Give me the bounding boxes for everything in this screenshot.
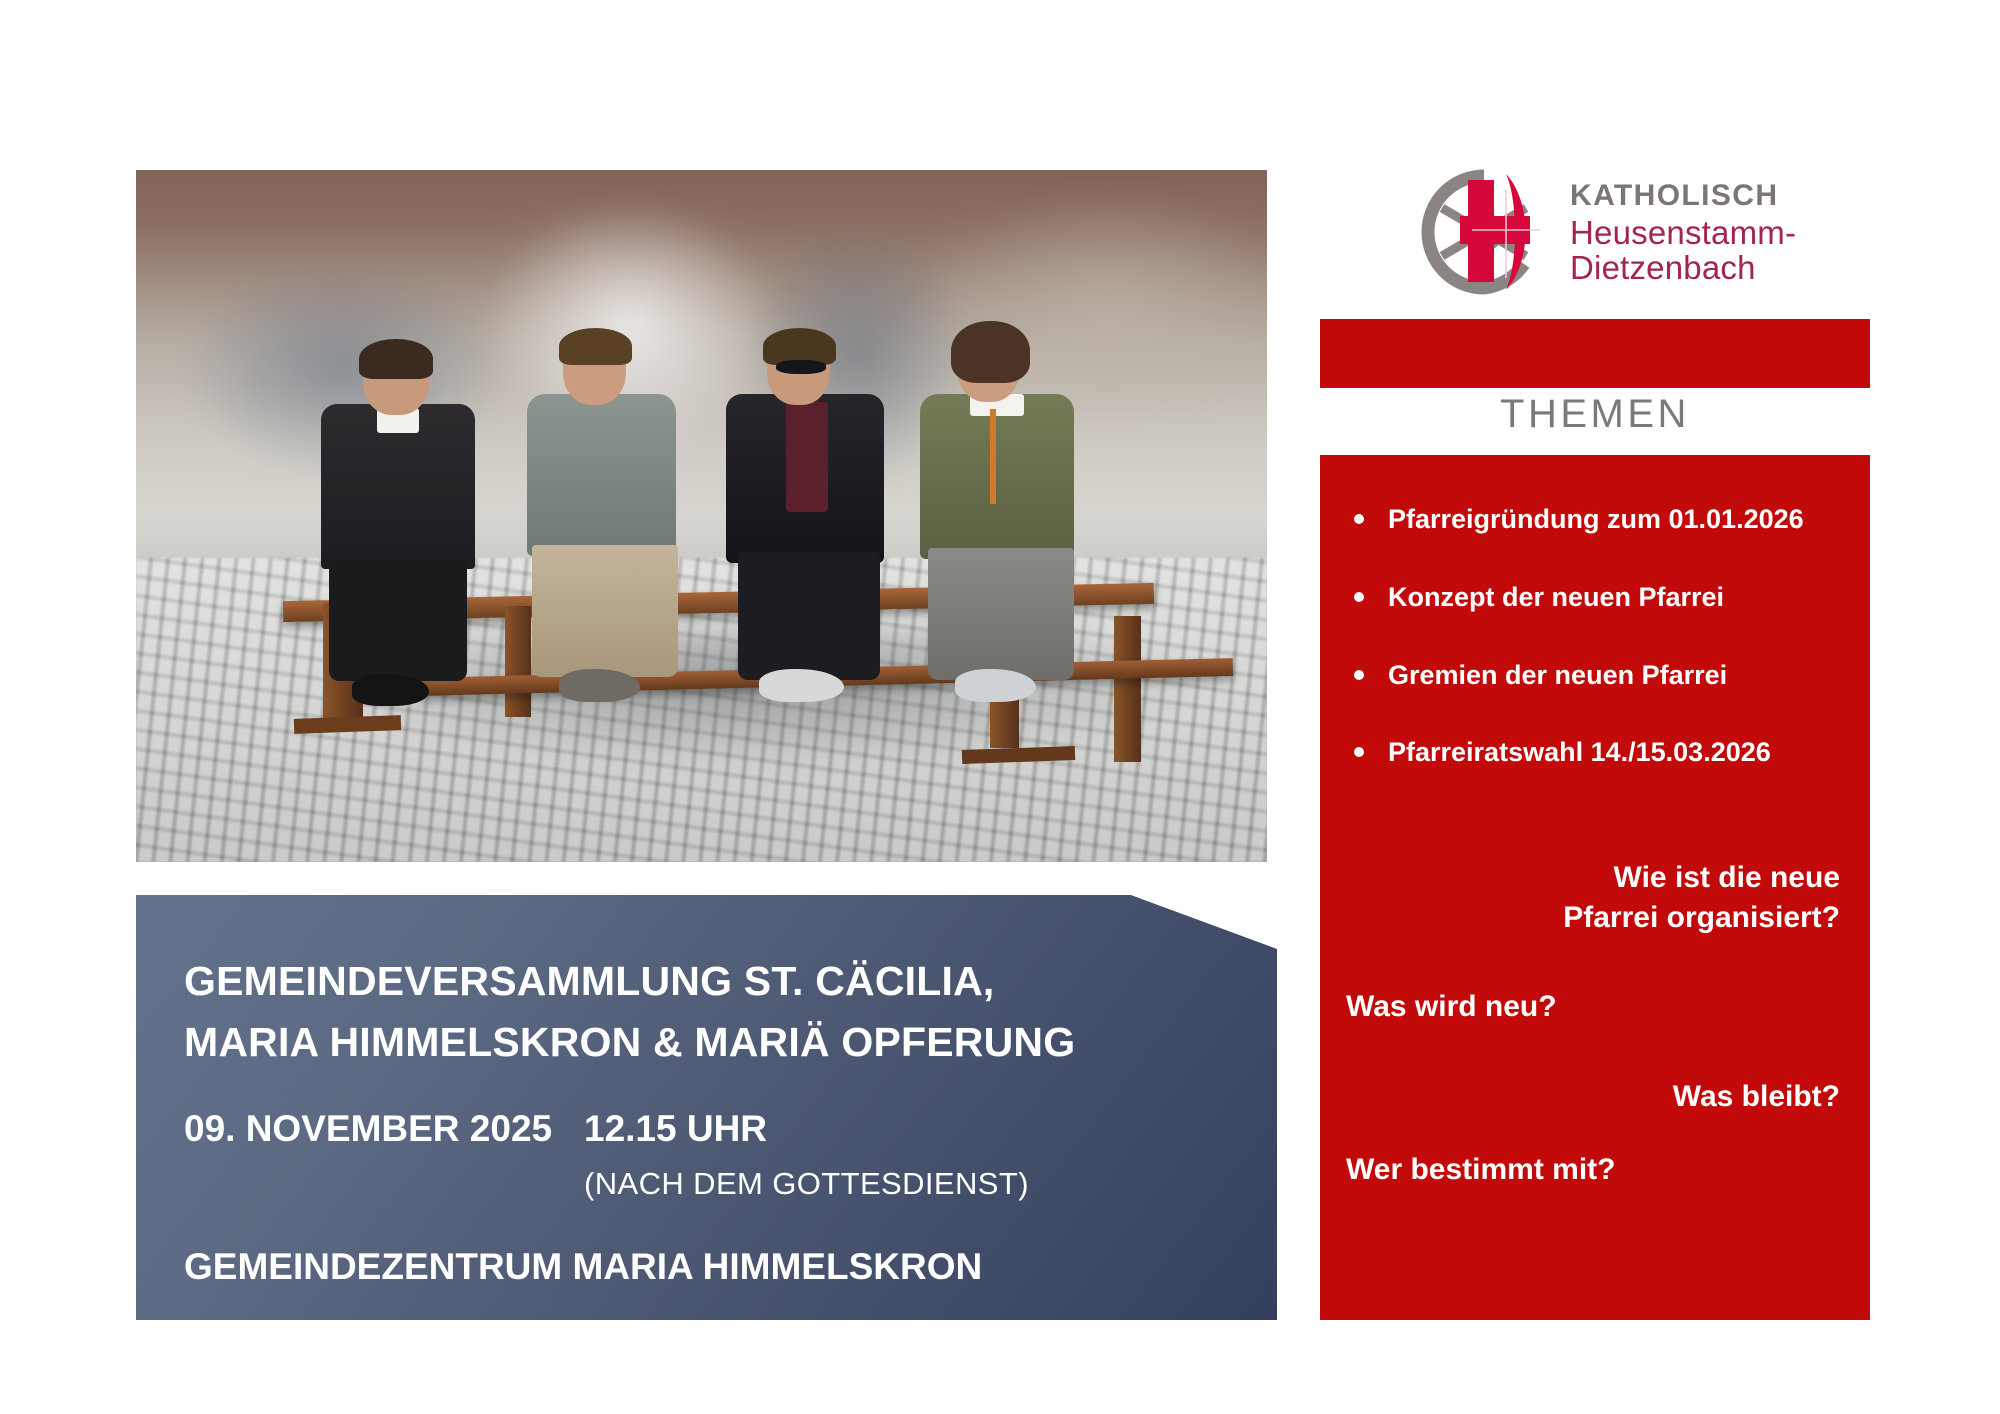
person-priest — [306, 350, 498, 710]
brand-logo-text: KATHOLISCH Heusenstamm- Dietzenbach — [1570, 181, 1796, 284]
question-wer-bestimmt-mit: Wer bestimmt mit? — [1346, 1150, 1840, 1190]
event-time: 12.15 UHR — [584, 1108, 767, 1150]
question-wie-line-2: Pfarrei organisiert? — [1346, 898, 1840, 938]
lanyard-icon — [990, 409, 997, 504]
list-item: Pfarreiratswahl 14./15.03.2026 — [1388, 736, 1850, 770]
young-man-hair — [559, 328, 632, 365]
priest-legs — [329, 559, 467, 681]
person-young-man — [509, 343, 701, 710]
burgundy-shirt — [786, 402, 828, 512]
man-sunglasses-legs — [738, 552, 880, 680]
young-man-torso — [527, 394, 677, 555]
red-accent-bar — [1320, 319, 1870, 388]
topics-list: Pfarreigründung zum 01.01.2026 Konzept d… — [1320, 503, 1870, 770]
event-details-panel: GEMEINDEVERSAMMLUNG ST. CÄCILIA, MARIA H… — [136, 895, 1277, 1320]
topic-label: Konzept der neuen Pfarrei — [1388, 582, 1724, 612]
woman-sweater — [920, 394, 1074, 559]
sunglasses-icon — [776, 360, 826, 375]
poster-canvas: GEMEINDEVERSAMMLUNG ST. CÄCILIA, MARIA H… — [0, 0, 2000, 1414]
bullet-icon — [1354, 592, 1364, 602]
list-item: Pfarreigründung zum 01.01.2026 — [1388, 503, 1850, 537]
topic-label: Pfarreiratswahl 14./15.03.2026 — [1388, 737, 1771, 767]
pew-leg-4 — [1114, 616, 1141, 761]
man-sunglasses-shoe — [759, 669, 844, 702]
person-man-sunglasses — [713, 343, 905, 710]
event-title-line-1: GEMEINDEVERSAMMLUNG ST. CÄCILIA, — [184, 951, 1277, 1012]
priest-hair — [359, 339, 432, 379]
event-photo — [136, 170, 1267, 862]
event-date: 09. NOVEMBER 2025 — [184, 1108, 584, 1150]
brand-line-dietzenbach: Dietzenbach — [1570, 251, 1796, 284]
brand-line-katholisch: KATHOLISCH — [1570, 181, 1796, 211]
question-was-bleibt: Was bleibt? — [1346, 1077, 1840, 1117]
topics-heading: THEMEN — [1320, 392, 1870, 437]
list-item: Konzept der neuen Pfarrei — [1388, 581, 1850, 615]
topics-panel: Pfarreigründung zum 01.01.2026 Konzept d… — [1320, 455, 1870, 1320]
bullet-icon — [1354, 670, 1364, 680]
topic-label: Pfarreigründung zum 01.01.2026 — [1388, 504, 1804, 534]
list-item: Gremien der neuen Pfarrei — [1388, 659, 1850, 693]
young-man-shoe — [559, 669, 640, 702]
woman-legs — [928, 548, 1074, 680]
brand-logo-block: KATHOLISCH Heusenstamm- Dietzenbach — [1420, 168, 1796, 296]
priest-shoe — [352, 674, 429, 706]
question-was-wird-neu: Was wird neu? — [1346, 987, 1840, 1027]
questions-block: Wie ist die neue Pfarrei organisiert? Wa… — [1320, 814, 1870, 1190]
event-time-note: (NACH DEM GOTTESDIENST) — [584, 1166, 1277, 1202]
topic-label: Gremien der neuen Pfarrei — [1388, 660, 1727, 690]
event-venue: GEMEINDEZENTRUM MARIA HIMMELSKRON — [184, 1246, 1277, 1288]
wheel-cross-logo-icon — [1420, 168, 1548, 296]
woman-shoe — [955, 669, 1036, 702]
bullet-icon — [1354, 747, 1364, 757]
woman-hair — [951, 321, 1030, 383]
person-woman — [905, 343, 1097, 710]
event-title-line-2: MARIA HIMMELSKRON & MARIÄ OPFERUNG — [184, 1012, 1277, 1073]
bullet-icon — [1354, 514, 1364, 524]
event-datetime-row: 09. NOVEMBER 2025 12.15 UHR — [184, 1108, 1277, 1150]
brand-line-heusenstamm: Heusenstamm- — [1570, 216, 1796, 249]
question-wie-line-1: Wie ist die neue — [1346, 858, 1840, 898]
young-man-legs — [532, 545, 678, 677]
